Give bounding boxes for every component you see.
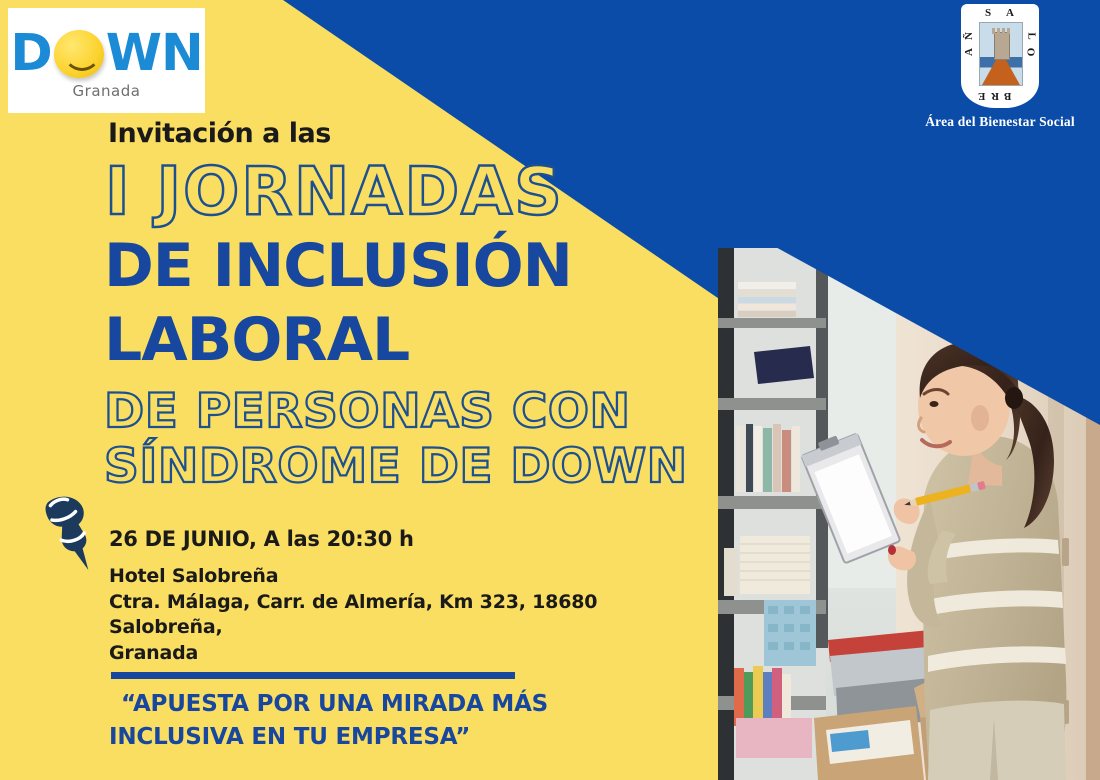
crest-shield-graphic: S A L O B R E Ñ A [961, 4, 1039, 108]
invitation-eyebrow: Invitación a las [108, 118, 331, 149]
title-line-inclusion: DE INCLUSIÓN [104, 238, 572, 296]
crest-letter-o: O [1025, 48, 1037, 57]
poster-canvas: D W N Granada S A L O B R E Ñ A Área del… [0, 0, 1100, 780]
slogan-line-2: INCLUSIVA EN TU EMPRESA” [109, 721, 669, 754]
crest-letter-b: B [1004, 90, 1011, 102]
down-logo-letter-d: D [10, 28, 51, 79]
slogan-quote: “APUESTA POR UNA MIRADA MÁS INCLUSIVA EN… [109, 688, 669, 755]
venue-city: Granada [109, 641, 689, 667]
crest-letter-s: S [985, 7, 991, 19]
crest-caption: Área del Bienestar Social [905, 114, 1095, 130]
down-logo-letter-w: W [106, 28, 161, 79]
down-logo-wordmark: D W N [10, 24, 202, 84]
title-line-personas: DE PERSONAS CON [104, 388, 631, 435]
crest-letter-enye: Ñ [963, 32, 975, 40]
crest-escutcheon [979, 22, 1023, 86]
pushpin-icon [30, 490, 110, 575]
salobrena-coat-of-arms: S A L O B R E Ñ A Área del Bienestar Soc… [905, 4, 1095, 144]
crest-letter-r: R [991, 90, 999, 102]
title-line-sindrome: SÍNDROME DE DOWN [104, 443, 688, 490]
crest-letter-l: L [1025, 32, 1037, 39]
event-venue: Hotel Salobreña Ctra. Málaga, Carr. de A… [109, 564, 689, 667]
title-line-laboral: LABORAL [104, 312, 409, 370]
venue-address: Ctra. Málaga, Carr. de Almería, Km 323, … [109, 590, 689, 641]
slogan-line-1: “APUESTA POR UNA MIRADA MÁS [109, 688, 669, 721]
crest-letter-a: A [1006, 7, 1014, 19]
down-logo-letter-n: N [161, 28, 203, 79]
down-granada-logo: D W N Granada [8, 8, 205, 113]
venue-name: Hotel Salobreña [109, 564, 689, 590]
crest-letter-e: E [978, 90, 985, 102]
event-date: 26 DE JUNIO, A las 20:30 h [109, 527, 689, 551]
down-logo-subtitle: Granada [73, 82, 141, 100]
title-line-jornadas: I JORNADAS [105, 160, 564, 225]
smiley-face-icon [54, 30, 104, 78]
crest-tower-icon [994, 32, 1010, 60]
divider-rule [111, 672, 515, 679]
event-details: 26 DE JUNIO, A las 20:30 h Hotel Salobre… [109, 527, 689, 667]
crest-letter-a2: A [963, 48, 975, 56]
pushpin-icon-svg [30, 490, 110, 575]
